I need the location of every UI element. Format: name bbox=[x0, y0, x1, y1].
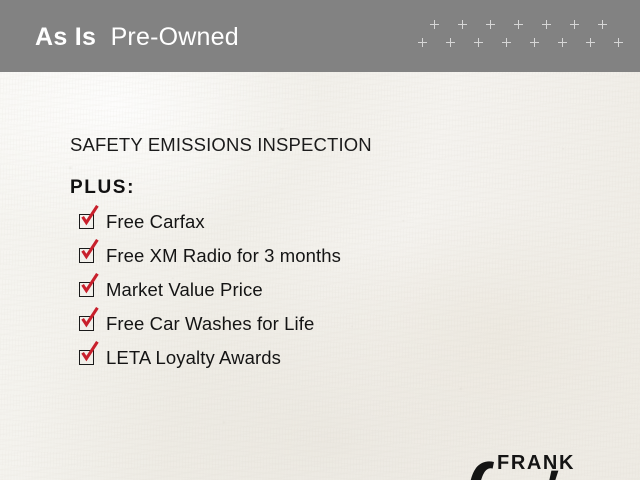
slide-canvas: As Is Pre-Owned bbox=[0, 0, 640, 480]
page-title-regular-text: Pre-Owned bbox=[111, 23, 239, 51]
plus-pattern-decoration bbox=[418, 20, 628, 58]
checkbox[interactable] bbox=[79, 350, 94, 365]
plus-icon bbox=[502, 38, 511, 47]
plus-icon bbox=[558, 38, 567, 47]
section-heading-plus: PLUS: bbox=[70, 177, 135, 199]
brand-logo-leta-script bbox=[438, 458, 614, 480]
plus-icon bbox=[542, 20, 551, 29]
list-item: Free Car Washes for Life bbox=[79, 312, 499, 346]
page-title: As Is Pre-Owned bbox=[35, 22, 239, 52]
plus-icon bbox=[418, 38, 427, 47]
list-item: Market Value Price bbox=[79, 278, 499, 312]
brand-logo: FRANK bbox=[438, 444, 614, 480]
checkbox[interactable] bbox=[79, 214, 94, 229]
plus-pattern-row-bottom bbox=[418, 38, 628, 54]
list-item-label: Free Car Washes for Life bbox=[106, 312, 314, 335]
list-item: Free Carfax bbox=[79, 210, 499, 244]
plus-icon bbox=[598, 20, 607, 29]
page-title-regular bbox=[96, 23, 110, 51]
slide-body: SAFETY EMISSIONS INSPECTION PLUS: Free C… bbox=[0, 72, 640, 480]
plus-icon bbox=[514, 20, 523, 29]
list-item-label: Free Carfax bbox=[106, 210, 205, 233]
plus-icon bbox=[446, 38, 455, 47]
list-item: LETA Loyalty Awards bbox=[79, 346, 499, 380]
checkbox[interactable] bbox=[79, 282, 94, 297]
list-item: Free XM Radio for 3 months bbox=[79, 244, 499, 278]
checkbox[interactable] bbox=[79, 248, 94, 263]
list-item-label: Market Value Price bbox=[106, 278, 263, 301]
plus-icon bbox=[486, 20, 495, 29]
checkbox[interactable] bbox=[79, 316, 94, 331]
section-heading-safety: SAFETY EMISSIONS INSPECTION bbox=[70, 134, 372, 156]
plus-icon bbox=[570, 20, 579, 29]
list-item-label: Free XM Radio for 3 months bbox=[106, 244, 341, 267]
list-item-label: LETA Loyalty Awards bbox=[106, 346, 281, 369]
plus-icon bbox=[458, 20, 467, 29]
plus-icon bbox=[614, 38, 623, 47]
plus-icon bbox=[474, 38, 483, 47]
plus-icon bbox=[530, 38, 539, 47]
plus-icon bbox=[430, 20, 439, 29]
header-band: As Is Pre-Owned bbox=[0, 0, 640, 72]
plus-icon bbox=[586, 38, 595, 47]
page-title-bold: As Is bbox=[35, 23, 96, 51]
plus-pattern-row-top bbox=[418, 20, 628, 36]
benefits-checklist: Free Carfax Free XM Radio for 3 months M… bbox=[79, 210, 499, 380]
